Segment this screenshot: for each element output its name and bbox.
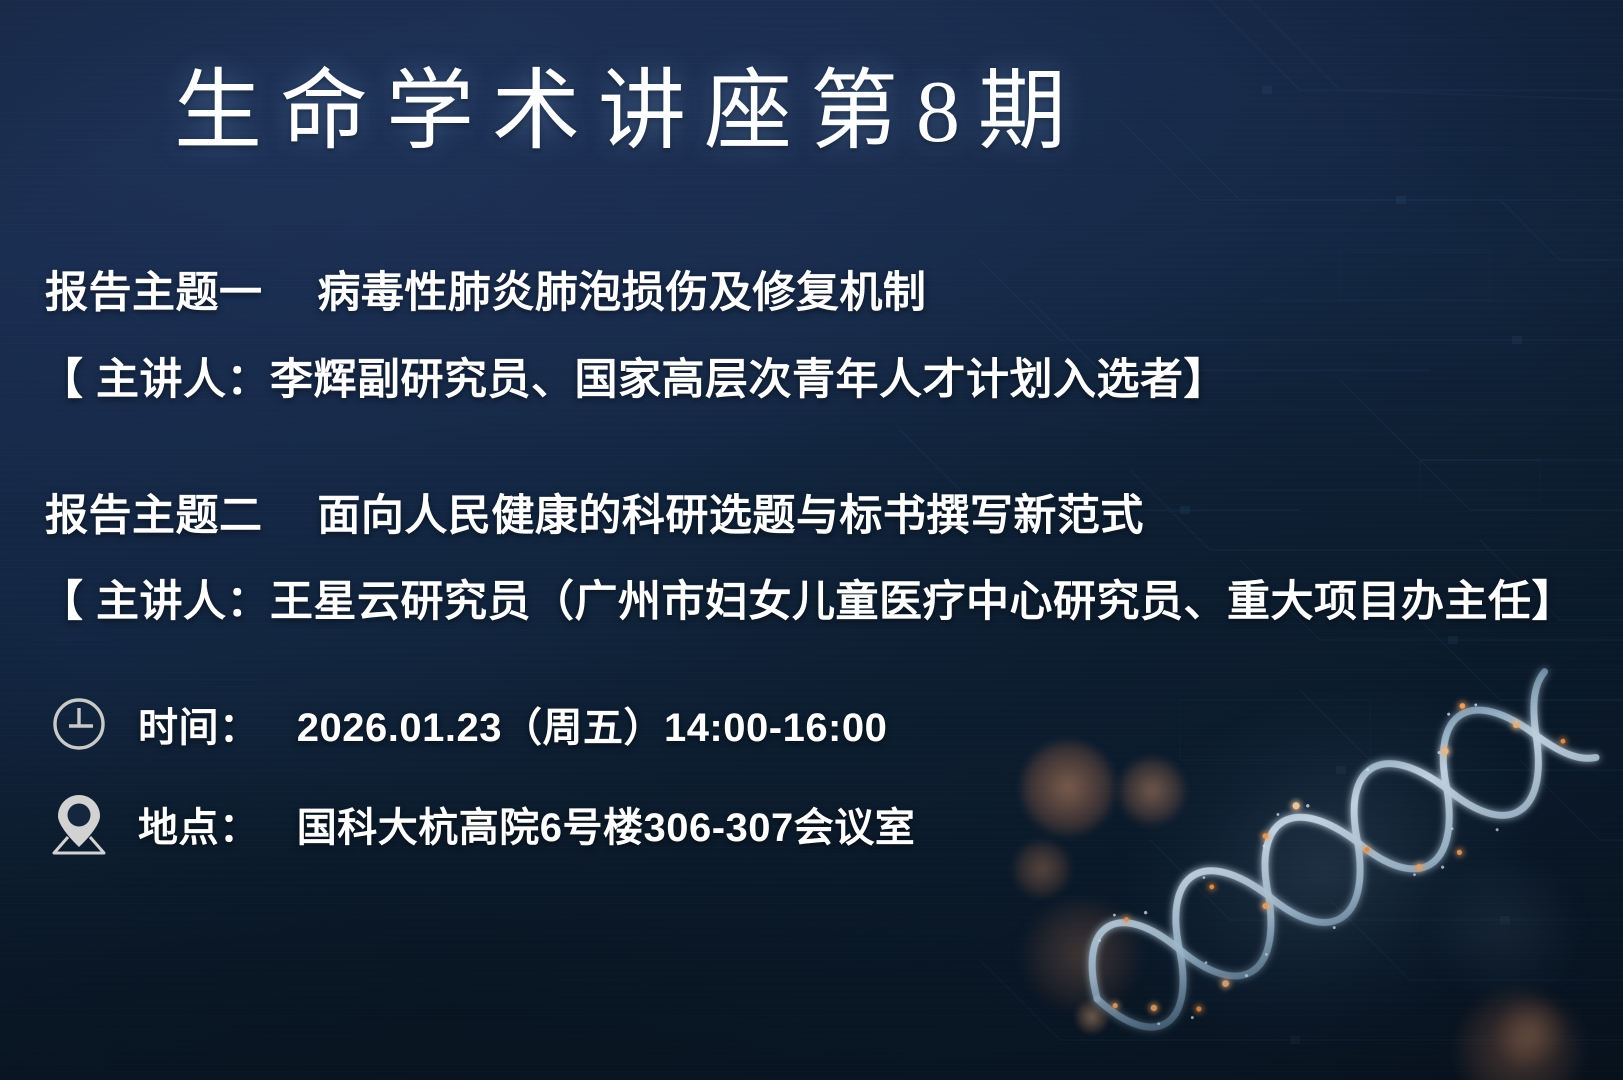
session-1-speaker: 【 主讲人：李辉副研究员、国家高层次青年人才计划入选者】 bbox=[40, 345, 1227, 407]
location-value: 国科大杭高院6号楼306-307会议室 bbox=[297, 806, 916, 850]
session-2-speaker: 【 主讲人：王星云研究员（广州市妇女儿童医疗中心研究员、重大项目办主任】 bbox=[40, 567, 1575, 629]
poster-content: 生命学术讲座第8期 报告主题一 病毒性肺炎肺泡损伤及修复机制 【 主讲人：李辉副… bbox=[0, 0, 1623, 1080]
clock-icon bbox=[48, 688, 110, 760]
poster: 生命学术讲座第8期 报告主题一 病毒性肺炎肺泡损伤及修复机制 【 主讲人：李辉副… bbox=[0, 0, 1623, 1080]
location-text: 地点： 国科大杭高院6号楼306-307会议室 bbox=[138, 795, 915, 853]
session-1-topic-label: 报告主题一 bbox=[45, 269, 263, 317]
session-2-topic-label: 报告主题二 bbox=[45, 492, 263, 540]
page-title: 生命学术讲座第8期 bbox=[0, 60, 1240, 166]
time-value: 2026.01.23（周五）14:00-16:00 bbox=[297, 706, 888, 750]
time-label: 时间： bbox=[138, 706, 260, 750]
session-1-topic-title: 病毒性肺炎肺泡损伤及修复机制 bbox=[317, 269, 926, 317]
location-label: 地点： bbox=[138, 806, 260, 850]
session-2-topic-title: 面向人民健康的科研选题与标书撰写新范式 bbox=[317, 492, 1144, 540]
time-row: 时间： 2026.01.23（周五）14:00-16:00 bbox=[48, 688, 887, 760]
session-1-topic: 报告主题一 病毒性肺炎肺泡损伤及修复机制 bbox=[45, 258, 926, 320]
location-row: 地点： 国科大杭高院6号楼306-307会议室 bbox=[48, 788, 915, 860]
time-text: 时间： 2026.01.23（周五）14:00-16:00 bbox=[138, 695, 887, 753]
location-pin-icon bbox=[48, 788, 110, 860]
session-2-topic: 报告主题二 面向人民健康的科研选题与标书撰写新范式 bbox=[45, 481, 1144, 543]
